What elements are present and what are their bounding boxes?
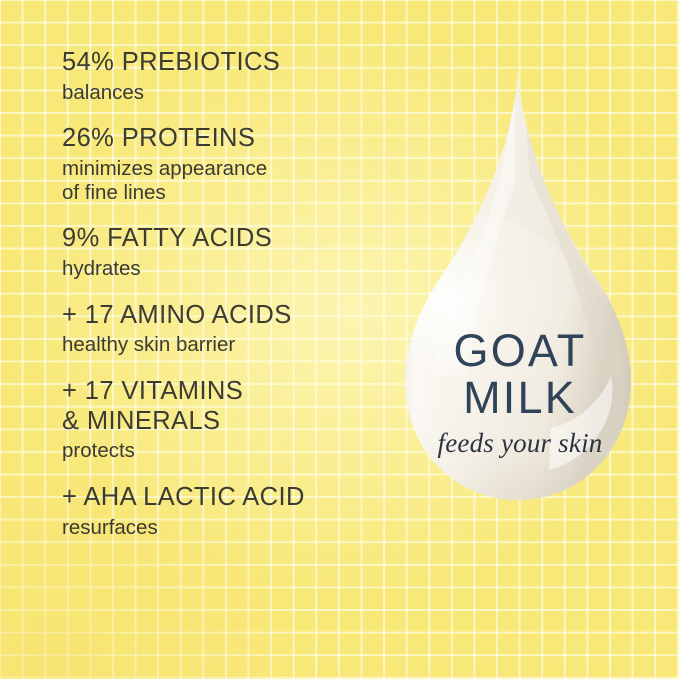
ingredient-benefit: hydrates: [62, 257, 382, 281]
ingredient-heading: + 17 AMINO ACIDS: [62, 301, 382, 331]
ingredient-item-amino-acids: + 17 AMINO ACIDS healthy skin barrier: [62, 301, 382, 357]
ingredient-list: 54% PREBIOTICS balances 26% PROTEINS min…: [62, 48, 382, 559]
ingredient-heading: 54% PREBIOTICS: [62, 48, 382, 78]
ingredient-heading: 9% FATTY ACIDS: [62, 224, 382, 254]
ingredient-heading: + AHA LACTIC ACID: [62, 483, 382, 513]
milk-droplet-icon: [383, 56, 657, 556]
droplet-edge-shadow: [383, 56, 657, 556]
ingredient-item-vitamins-minerals: + 17 VITAMINS & MINERALS protects: [62, 377, 382, 463]
ingredient-item-fatty-acids: 9% FATTY ACIDS hydrates: [62, 224, 382, 280]
ingredient-benefit: healthy skin barrier: [62, 333, 382, 357]
milk-droplet: GOAT MILK feeds your skin: [383, 56, 657, 556]
ingredient-benefit: minimizes appearance of fine lines: [62, 157, 382, 205]
ingredient-heading: + 17 VITAMINS & MINERALS: [62, 377, 382, 436]
ingredient-heading: 26% PROTEINS: [62, 124, 382, 154]
ingredient-item-proteins: 26% PROTEINS minimizes appearance of fin…: [62, 124, 382, 204]
ingredient-benefit: protects: [62, 439, 382, 463]
ingredient-item-prebiotics: 54% PREBIOTICS balances: [62, 48, 382, 104]
ingredient-benefit: resurfaces: [62, 516, 382, 540]
ingredient-item-aha-lactic-acid: + AHA LACTIC ACID resurfaces: [62, 483, 382, 539]
ingredient-benefit: balances: [62, 81, 382, 105]
product-ingredient-infographic: 54% PREBIOTICS balances 26% PROTEINS min…: [0, 0, 679, 679]
